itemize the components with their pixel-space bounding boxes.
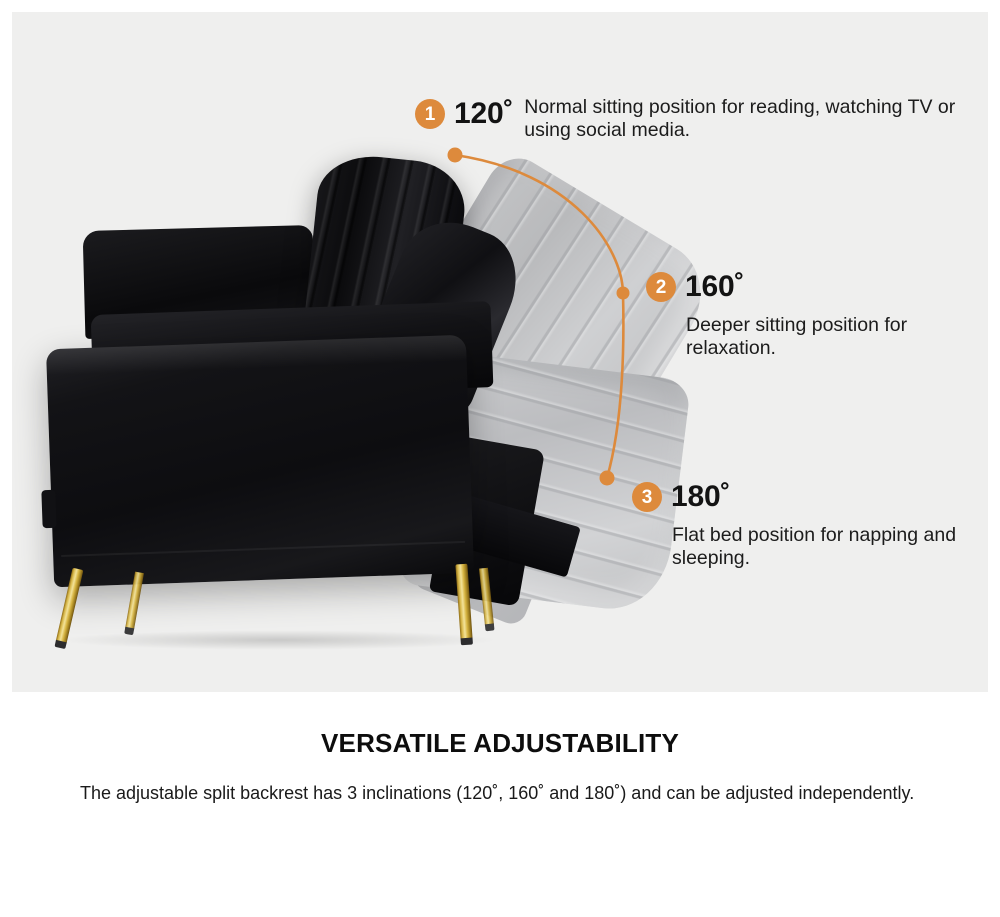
caption-body: The adjustable split backrest has 3 incl… (80, 778, 940, 808)
callout-160-heading: 2160˚ (646, 270, 988, 304)
callout-160-degrees: 2160˚ Deeper sitting position for relaxa… (646, 270, 988, 360)
caption-title: VERSATILE ADJUSTABILITY (0, 728, 1000, 759)
callout-120-degrees: 1120˚ Normal sitting position for readin… (415, 95, 988, 142)
arm-panel-seam (61, 541, 465, 557)
callout-description-120: Normal sitting position for reading, wat… (524, 95, 988, 142)
callout-180-degrees: 3180˚ Flat bed position for napping and … (632, 480, 988, 570)
callout-badge-2: 2 (646, 272, 676, 302)
callout-description-160: Deeper sitting position for relaxation. (686, 314, 988, 360)
callout-badge-3: 3 (632, 482, 662, 512)
callout-angle-160: 160˚ (685, 270, 744, 304)
callout-angle-180: 180˚ (671, 480, 730, 514)
sofa-arm-panel (46, 335, 474, 588)
callout-angle-120: 120˚ (454, 97, 513, 131)
callout-badge-1: 1 (415, 99, 445, 129)
product-image-panel: 1120˚ Normal sitting position for readin… (12, 12, 988, 692)
infographic-page: 1120˚ Normal sitting position for readin… (0, 0, 1000, 917)
callout-180-heading: 3180˚ (632, 480, 988, 514)
sofa-side-tab (41, 490, 56, 528)
callout-120-heading: 1120˚ (415, 95, 513, 131)
callout-description-180: Flat bed position for napping and sleepi… (672, 524, 988, 570)
